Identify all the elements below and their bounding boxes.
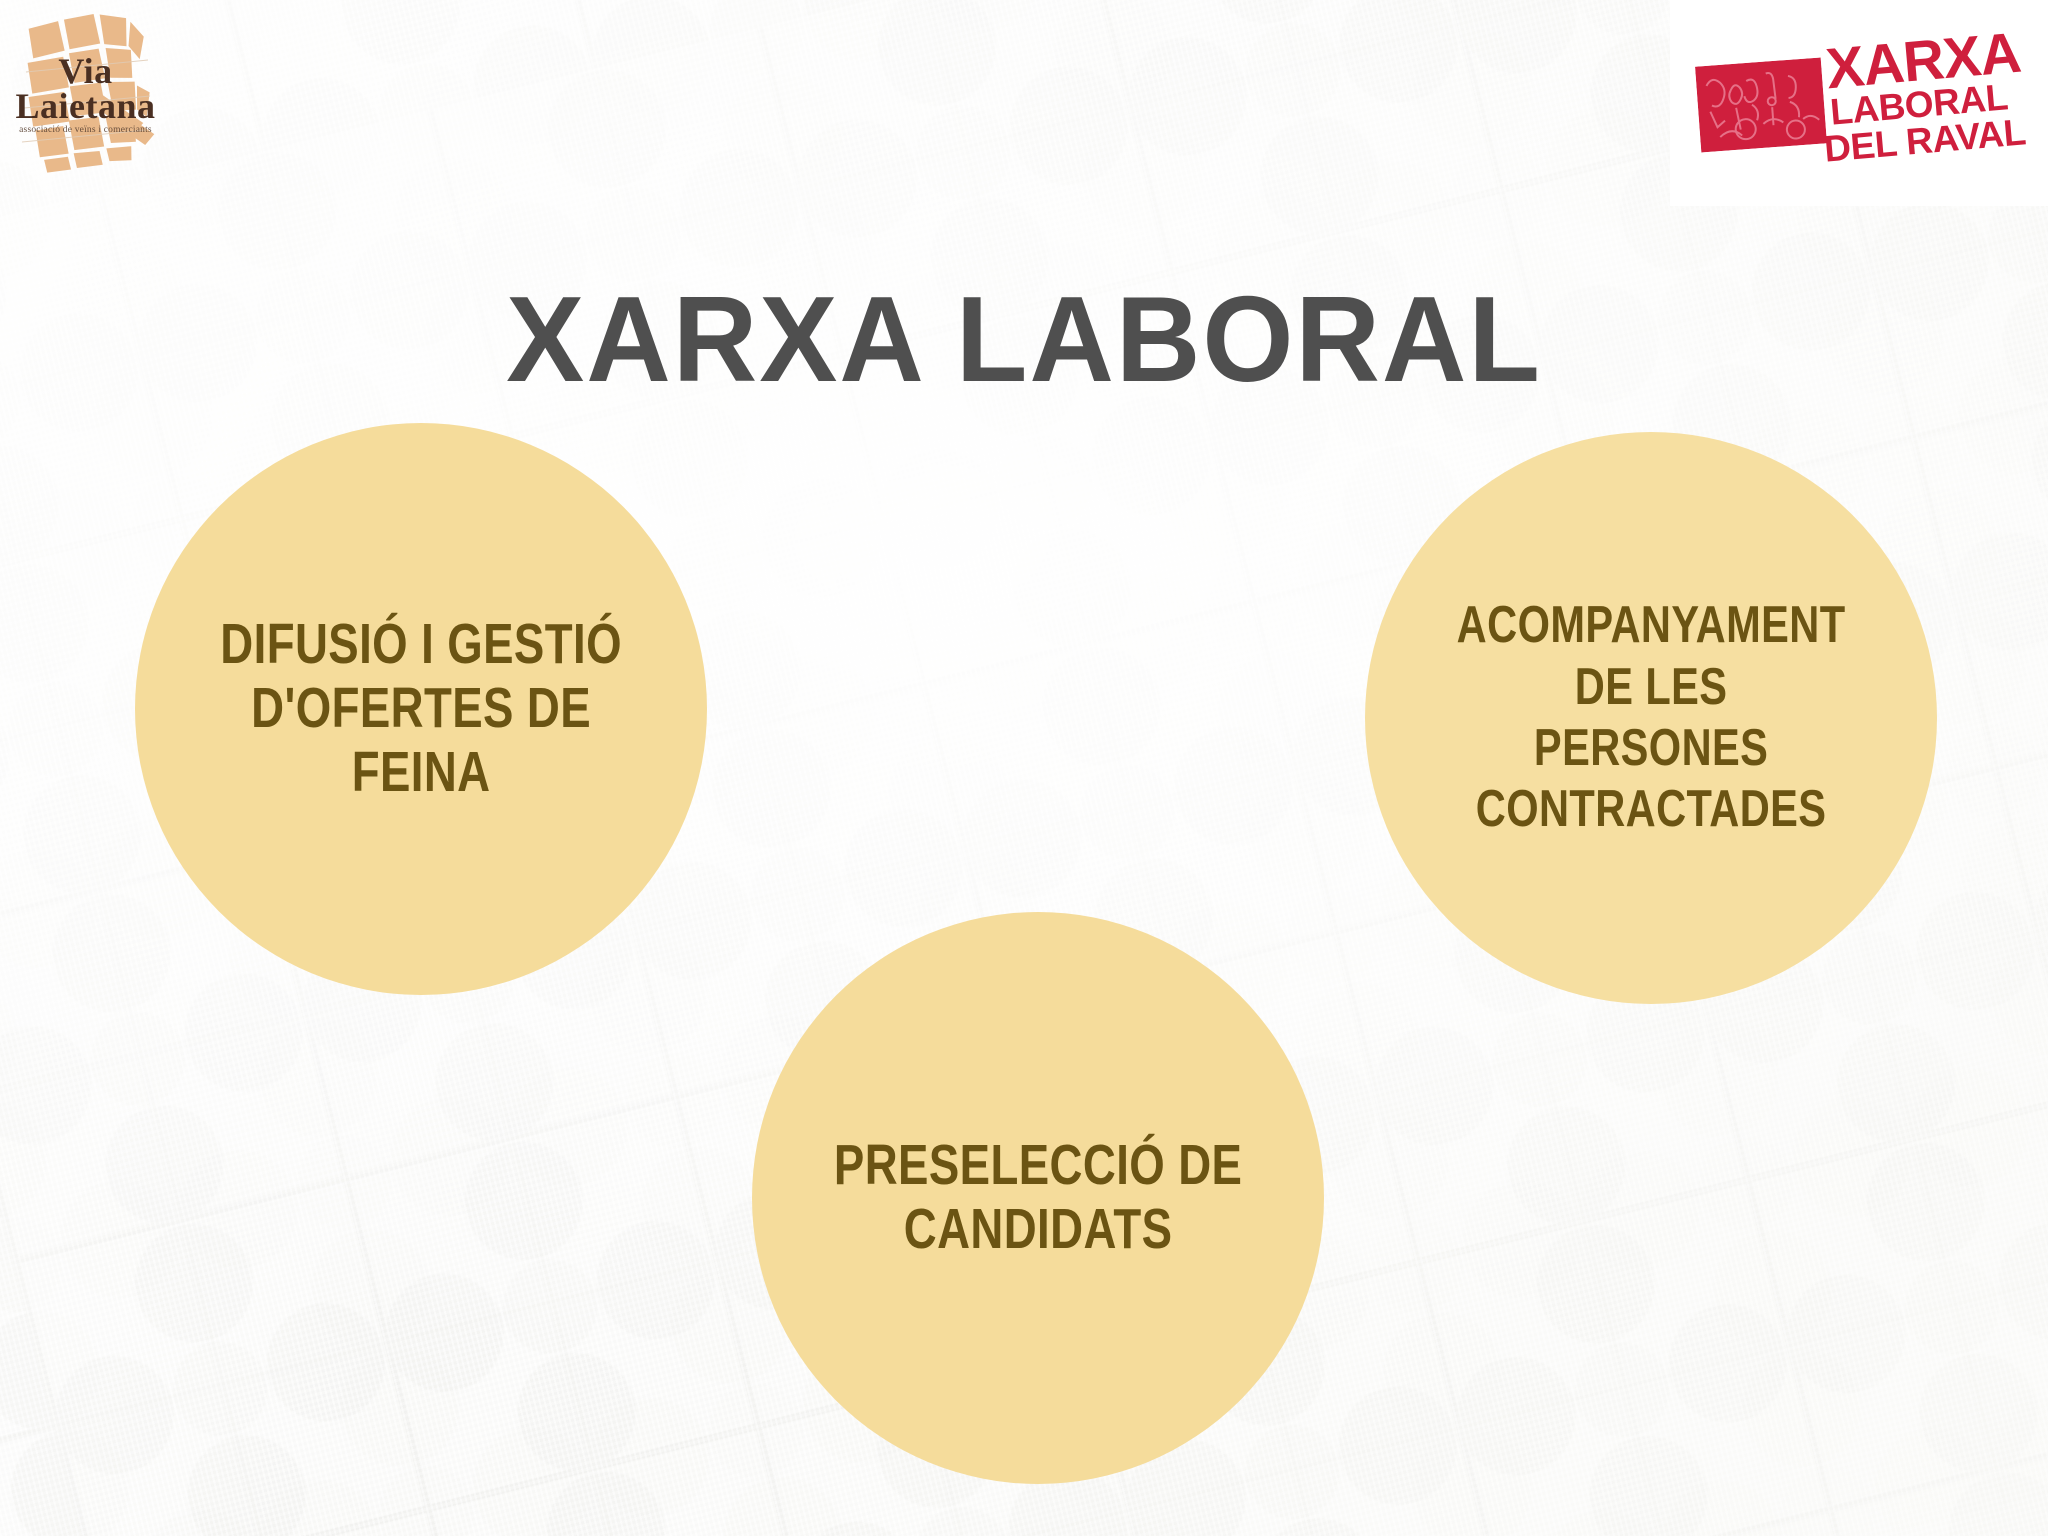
via-laietana-line1: Via — [8, 54, 163, 89]
raval-artwork-icon — [1695, 58, 1827, 153]
circle-difusio-line2: D'OFERTES DE FEINA — [251, 676, 591, 804]
via-laietana-subtitle: associació de veïns i comerciants — [8, 126, 163, 135]
circle-preseleccio-label: PRESELECCIÓ DE CANDIDATS — [827, 1134, 1248, 1262]
circle-difusio-label: DIFUSIÓ I GESTIÓ D'OFERTES DE FEINA — [210, 613, 631, 804]
circle-acompanyament-line3: PERSONES — [1534, 719, 1768, 777]
circle-preseleccio-candidats[interactable]: PRESELECCIÓ DE CANDIDATS — [752, 912, 1324, 1484]
circle-acompanyament-line2: DE LES — [1575, 658, 1728, 716]
via-laietana-line2: Laietana — [8, 89, 163, 124]
circle-acompanyament-persones[interactable]: ACOMPANYAMENT DE LES PERSONES CONTRACTAD… — [1365, 432, 1937, 1004]
circle-difusio-i-gestio[interactable]: DIFUSIÓ I GESTIÓ D'OFERTES DE FEINA — [135, 423, 707, 995]
circle-difusio-line1: DIFUSIÓ I GESTIÓ — [220, 612, 622, 676]
circle-preseleccio-line1: PRESELECCIÓ DE — [834, 1133, 1242, 1197]
slide-canvas: Via Laietana associació de veïns i comer… — [0, 0, 2048, 1536]
via-laietana-logo[interactable]: Via Laietana associació de veïns i comer… — [8, 2, 163, 174]
circle-preseleccio-line2: CANDIDATS — [904, 1197, 1173, 1261]
circle-acompanyament-line1: ACOMPANYAMENT — [1457, 596, 1846, 654]
circle-acompanyament-line4: CONTRACTADES — [1476, 780, 1827, 838]
circle-acompanyament-label: ACOMPANYAMENT DE LES PERSONES CONTRACTAD… — [1440, 595, 1861, 840]
via-laietana-wordmark: Via Laietana associació de veïns i comer… — [8, 54, 163, 135]
page-title: XARXA LABORAL — [41, 278, 2007, 400]
xarxa-raval-wordmark: XARXA LABORAL DEL RAVAL — [1822, 38, 2048, 188]
xarxa-laboral-del-raval-logo[interactable]: XARXA LABORAL DEL RAVAL — [1670, 0, 2048, 206]
